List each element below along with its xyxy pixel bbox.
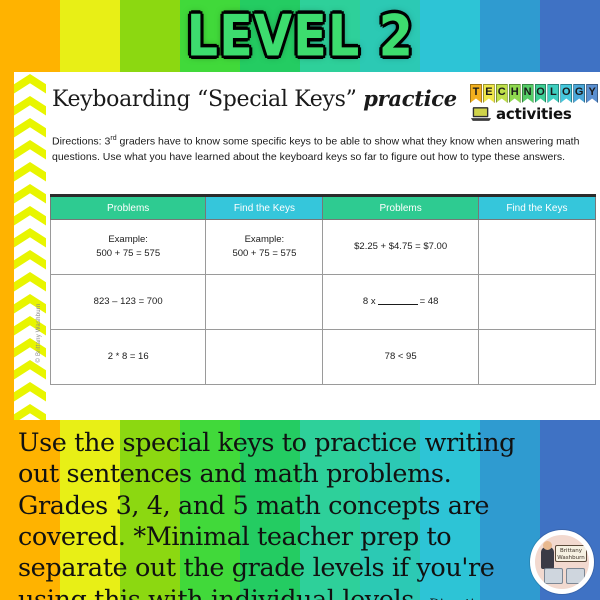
- panel-content: Keyboarding “Special Keys” practice T E …: [46, 72, 600, 420]
- worksheet-preview-poster: LEVEL 2 © Brittany Washburn Keyboarding: [0, 0, 600, 600]
- table-row: 2 * 8 = 16 78 < 95: [51, 330, 596, 385]
- chevron-icon: [14, 404, 46, 420]
- cell-answer-1[interactable]: [206, 275, 323, 330]
- cell-line-2: 500 + 75 = 575: [232, 248, 296, 259]
- cell-problem-2: 78 < 95: [323, 330, 478, 385]
- cell-line-1: Example:: [245, 234, 285, 245]
- page-title: Keyboarding “Special Keys” practice: [52, 86, 457, 112]
- badge-name-line-2: Washburn: [556, 555, 586, 562]
- chevron-icon: [14, 382, 46, 404]
- chevron-icon: [14, 250, 46, 272]
- cell-answer-2[interactable]: [478, 220, 595, 275]
- chevron-icon: [14, 162, 46, 184]
- product-description: Use the special keys to practice writing…: [18, 428, 538, 600]
- page-title-script: practice: [363, 86, 457, 111]
- table-header-row: Problems Find the Keys Problems Find the…: [51, 196, 596, 220]
- activities-label: activities: [496, 105, 572, 123]
- copyright-notice: © Brittany Washburn: [36, 285, 42, 381]
- cell-expression-prefix: 8 x: [363, 296, 376, 307]
- tech-letter-tile: L: [547, 84, 559, 103]
- worksheet-panel: © Brittany Washburn Keyboarding “Special…: [14, 72, 600, 420]
- product-description-text: Use the special keys to practice writing…: [18, 428, 515, 600]
- chevron-icon: [14, 118, 46, 140]
- cell-answer-2[interactable]: [478, 330, 595, 385]
- cell-answer-1[interactable]: [206, 330, 323, 385]
- chevron-icon: [14, 74, 46, 96]
- tech-letter-tile: G: [573, 84, 585, 103]
- chevron-icon: [14, 184, 46, 206]
- cell-answer-1[interactable]: Example: 500 + 75 = 575: [206, 220, 323, 275]
- column-header-find-keys-1: Find the Keys: [206, 196, 323, 220]
- directions-label: Directions: 3: [52, 136, 110, 148]
- column-header-problems-2: Problems: [323, 196, 478, 220]
- chevron-icon: [14, 206, 46, 228]
- cell-problem-1: Example: 500 + 75 = 575: [51, 220, 206, 275]
- table-row: 823 – 123 = 700 8 x= 48: [51, 275, 596, 330]
- technology-logo-footer: activities: [470, 105, 598, 123]
- cell-problem-1: 823 – 123 = 700: [51, 275, 206, 330]
- chevron-icon: [14, 140, 46, 162]
- badge-illustration: Brittany Washburn: [535, 535, 589, 589]
- teacher-figure-icon: [541, 547, 554, 569]
- chevron-icon: [14, 228, 46, 250]
- badge-name-line-1: Brittany: [556, 548, 586, 555]
- cell-line-2: 500 + 75 = 575: [96, 248, 160, 259]
- tech-letter-tile: E: [483, 84, 495, 103]
- page-title-main: Keyboarding “Special Keys”: [52, 87, 363, 112]
- worksheet-heading-row: Keyboarding “Special Keys” practice T E …: [52, 84, 600, 130]
- technology-activities-logo: T E C H N O L O G Y: [470, 84, 598, 123]
- chevron-icon: [14, 96, 46, 118]
- computer-desk-icon: [566, 568, 585, 584]
- badge-name-sign: Brittany Washburn: [555, 545, 587, 562]
- tech-letter-tile: O: [535, 84, 547, 103]
- answer-blank-line[interactable]: [378, 304, 418, 305]
- cell-problem-2: $2.25 + $4.75 = $7.00: [323, 220, 478, 275]
- cell-problem-1: 2 * 8 = 16: [51, 330, 206, 385]
- directions-paragraph: Directions: 3rd graders have to know som…: [52, 134, 592, 165]
- column-header-find-keys-2: Find the Keys: [478, 196, 595, 220]
- table-row: Example: 500 + 75 = 575 Example: 500 + 7…: [51, 220, 596, 275]
- tech-letter-tile: Y: [586, 84, 598, 103]
- tech-letter-tile: O: [560, 84, 572, 103]
- level-banner: LEVEL 2: [0, 0, 600, 72]
- tech-letter-tile: N: [522, 84, 534, 103]
- tech-letter-tile: C: [496, 84, 508, 103]
- level-title: LEVEL 2: [186, 2, 413, 69]
- cell-expression-suffix: = 48: [420, 296, 439, 307]
- computer-desk-icon: [544, 568, 563, 584]
- problems-table: Problems Find the Keys Problems Find the…: [50, 194, 596, 385]
- tech-letter-tile: H: [509, 84, 521, 103]
- laptop-icon: [470, 106, 492, 123]
- cell-answer-2[interactable]: [478, 275, 595, 330]
- cell-line-1: Example:: [108, 234, 148, 245]
- cell-problem-2: 8 x= 48: [323, 275, 478, 330]
- technology-letters: T E C H N O L O G Y: [470, 84, 598, 103]
- column-header-problems-1: Problems: [51, 196, 206, 220]
- brand-logo-badge: Brittany Washburn: [530, 530, 594, 594]
- directions-body: graders have to know some specific keys …: [52, 136, 579, 163]
- tech-letter-tile: T: [470, 84, 482, 103]
